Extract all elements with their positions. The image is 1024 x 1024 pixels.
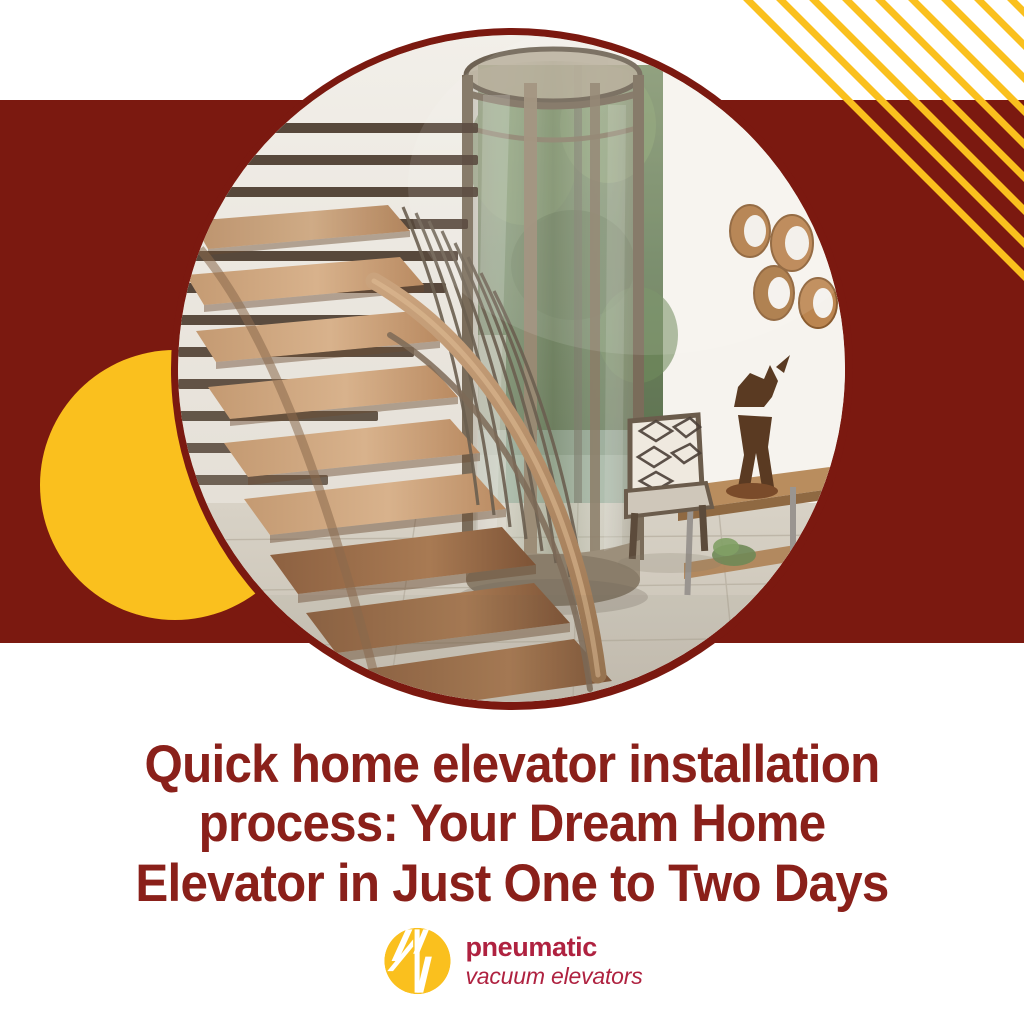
headline-line-1: Quick home elevator installation — [145, 735, 880, 794]
headline-line-2: process: Your Dream Home — [199, 794, 826, 853]
logo-primary-text: pneumatic — [465, 934, 642, 961]
logo-secondary-text: vacuum elevators — [465, 965, 642, 988]
logo-wordmark: pneumatic vacuum elevators — [465, 934, 642, 988]
photo-circle — [178, 35, 845, 702]
pve-circle-logomark-icon — [381, 925, 453, 997]
brand-logo: pneumatic vacuum elevators — [381, 925, 642, 997]
poster-canvas: Quick home elevator installation process… — [0, 0, 1024, 1024]
home-elevator-photo-illustration — [178, 35, 845, 702]
headline: Quick home elevator installation process… — [42, 735, 982, 913]
headline-line-3: Elevator in Just One to Two Days — [135, 854, 888, 913]
